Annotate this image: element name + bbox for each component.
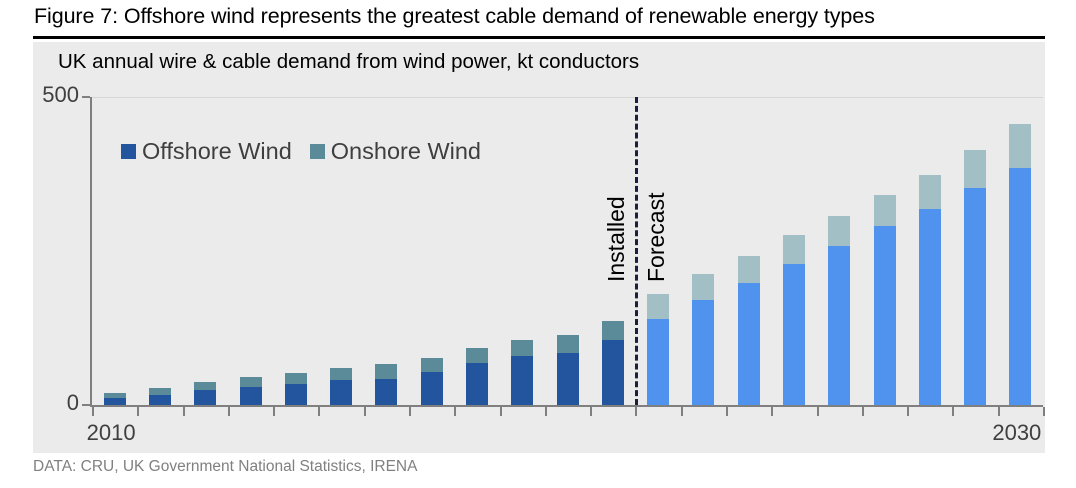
x-axis-tick [771, 407, 773, 416]
bar-segment-onshore-wind [285, 373, 307, 384]
source-caption: DATA: CRU, UK Government National Statis… [33, 458, 417, 476]
bar-2023 [692, 274, 714, 405]
chart-panel: UK annual wire & cable demand from wind … [33, 42, 1045, 453]
bar-segment-onshore-wind [375, 364, 397, 378]
annotation-forecast: Forecast [643, 193, 670, 282]
plot-area: 050020102030InstalledForecast [33, 42, 1045, 453]
bar-2030 [1009, 124, 1031, 405]
bar-segment-offshore-wind [783, 264, 805, 405]
x-axis-tick [183, 407, 185, 416]
bar-segment-offshore-wind [421, 372, 443, 405]
bar-segment-offshore-wind [557, 353, 579, 405]
bar-segment-offshore-wind [738, 283, 760, 405]
x-axis-tick [409, 407, 411, 416]
x-axis-tick [318, 407, 320, 416]
chart-legend: Offshore Wind Onshore Wind [121, 138, 481, 165]
x-axis-tick [998, 407, 1000, 416]
bar-segment-offshore-wind [964, 188, 986, 405]
legend-item-offshore-wind: Offshore Wind [121, 138, 292, 165]
x-axis-tick [590, 407, 592, 416]
bar-segment-offshore-wind [1009, 168, 1031, 405]
bar-segment-offshore-wind [602, 340, 624, 405]
x-axis-tick [92, 407, 94, 416]
x-axis-label-end: 2030 [992, 420, 1041, 446]
bar-2019 [511, 340, 533, 405]
x-axis-tick [726, 407, 728, 416]
bar-segment-offshore-wind [828, 246, 850, 405]
bar-2016 [375, 364, 397, 405]
x-axis-tick [228, 407, 230, 416]
forecast-divider-line [635, 97, 638, 405]
bar-2015 [330, 368, 352, 405]
bar-segment-onshore-wind [194, 382, 216, 391]
bar-2018 [466, 348, 488, 405]
x-axis-tick [635, 407, 637, 416]
bar-segment-offshore-wind [240, 387, 262, 405]
x-axis-tick [364, 407, 366, 416]
bar-segment-onshore-wind [692, 274, 714, 300]
bar-2013 [240, 377, 262, 405]
bar-segment-offshore-wind [375, 379, 397, 405]
x-axis-tick [952, 407, 954, 416]
bar-segment-onshore-wind [466, 348, 488, 363]
legend-label-offshore-wind: Offshore Wind [142, 138, 292, 165]
title-divider-rule [33, 36, 1045, 39]
bar-segment-onshore-wind [874, 195, 896, 226]
bar-segment-offshore-wind [104, 398, 126, 405]
bar-segment-onshore-wind [511, 340, 533, 356]
legend-swatch-offshore-wind [121, 144, 136, 159]
y-axis-label: 500 [33, 82, 79, 108]
bar-segment-offshore-wind [511, 356, 533, 405]
gridline-top [92, 97, 1043, 98]
bar-segment-onshore-wind [602, 321, 624, 339]
bar-segment-onshore-wind [421, 358, 443, 373]
bar-segment-offshore-wind [466, 363, 488, 405]
bar-segment-offshore-wind [874, 226, 896, 405]
bar-2029 [964, 150, 986, 405]
x-axis-tick [545, 407, 547, 416]
x-axis-tick [862, 407, 864, 416]
bar-2026 [828, 216, 850, 405]
bar-segment-onshore-wind [240, 377, 262, 387]
figure-container: Figure 7: Offshore wind represents the g… [0, 0, 1076, 488]
bar-segment-onshore-wind [149, 388, 171, 395]
x-axis-tick [273, 407, 275, 416]
y-axis-label-box: 500 [33, 82, 79, 108]
y-axis-label: 0 [33, 390, 79, 416]
figure-title: Figure 7: Offshore wind represents the g… [34, 4, 1044, 29]
x-axis-label-start: 2010 [87, 420, 136, 446]
y-axis-tick [82, 404, 90, 406]
x-axis-line [90, 405, 1043, 407]
bar-2028 [919, 175, 941, 405]
bar-segment-onshore-wind [738, 256, 760, 283]
x-axis-tick [817, 407, 819, 416]
x-axis-tick [1043, 407, 1045, 416]
bar-2011 [149, 388, 171, 405]
bar-segment-onshore-wind [919, 175, 941, 209]
bar-2027 [874, 195, 896, 405]
legend-label-onshore-wind: Onshore Wind [331, 138, 481, 165]
legend-swatch-onshore-wind [310, 144, 325, 159]
bar-segment-offshore-wind [285, 384, 307, 405]
bar-segment-onshore-wind [104, 393, 126, 398]
bar-segment-offshore-wind [647, 319, 669, 405]
bar-2022 [647, 294, 669, 405]
bar-segment-offshore-wind [692, 300, 714, 405]
bar-segment-offshore-wind [919, 209, 941, 405]
bar-segment-onshore-wind [964, 150, 986, 188]
bar-2017 [421, 358, 443, 405]
x-axis-tick [500, 407, 502, 416]
annotation-installed: Installed [603, 196, 630, 282]
legend-item-onshore-wind: Onshore Wind [310, 138, 481, 165]
bar-segment-onshore-wind [330, 368, 352, 380]
bar-2012 [194, 382, 216, 405]
bar-2010 [104, 393, 126, 405]
bar-segment-offshore-wind [330, 380, 352, 405]
x-axis-tick [681, 407, 683, 416]
bar-2021 [602, 321, 624, 405]
bar-segment-onshore-wind [557, 335, 579, 352]
y-axis-line [90, 97, 92, 405]
bar-2020 [557, 335, 579, 405]
bar-2024 [738, 256, 760, 405]
bar-segment-onshore-wind [1009, 124, 1031, 168]
bar-segment-offshore-wind [194, 390, 216, 405]
y-axis-tick [82, 96, 90, 98]
x-axis-tick [137, 407, 139, 416]
bar-2014 [285, 373, 307, 405]
x-axis-tick [454, 407, 456, 416]
bar-2025 [783, 235, 805, 405]
bar-segment-onshore-wind [783, 235, 805, 264]
bar-segment-onshore-wind [828, 216, 850, 246]
bar-segment-offshore-wind [149, 395, 171, 405]
y-axis-label-box: 0 [33, 390, 79, 416]
x-axis-tick [907, 407, 909, 416]
bar-segment-onshore-wind [647, 294, 669, 319]
